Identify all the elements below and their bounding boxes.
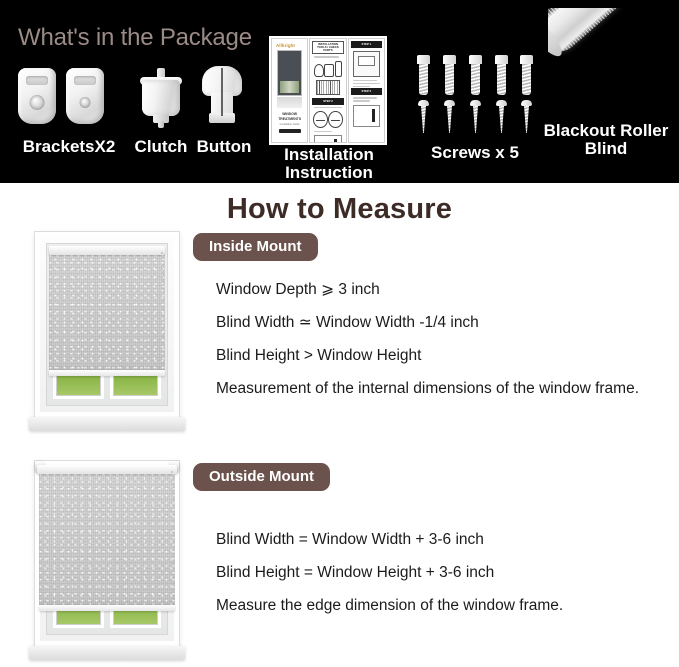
inside-mount-instructions: Window Depth ⩾ 3 inch Blind Width ≃ Wind…: [216, 273, 646, 405]
blind-fabric: [39, 473, 175, 605]
blind-headrail: [49, 246, 165, 255]
leaflet-brand-logo: Allbright: [276, 43, 305, 48]
inside-mount-line-4: Measurement of the internal dimensions o…: [216, 372, 646, 405]
window-sill: [29, 417, 185, 431]
inside-mount-badge-wrap: Inside Mount: [193, 233, 318, 261]
blind-chain: [161, 252, 163, 286]
inside-mount-window-illustration: [27, 226, 187, 431]
window-sill: [29, 646, 185, 660]
package-title: What's in the Package: [18, 24, 252, 52]
status-badge-outside-mount: Outside Mount: [193, 463, 330, 491]
blind-bottom-bar: [39, 605, 175, 611]
leaflet-header-step1: STEP 1: [351, 41, 382, 48]
leaflet-header-step3: STEP 3: [351, 88, 382, 95]
leaflet-panel-steps: STEP 1 STEP 3: [348, 38, 385, 143]
roller-blind-icon: [548, 8, 679, 126]
package-item-label-brackets: BracketsX2: [10, 138, 128, 156]
button-icon: [198, 66, 246, 126]
leaflet-header-parts: INSTALLATION TOOLS / CHECK PARTS: [312, 41, 343, 54]
package-item-label-clutch: Clutch: [126, 138, 196, 156]
inside-mount-line-2: Blind Width ≃ Window Width -1/4 inch: [216, 306, 646, 339]
package-item-label-screws: Screws x 5: [412, 144, 538, 162]
package-item-label-installation: Installation Instruction: [270, 146, 388, 183]
inside-mount-line-1: Window Depth ⩾ 3 inch: [216, 273, 646, 306]
bracket-icon: [14, 68, 124, 126]
outside-mount-line-1: Blind Width = Window Width + 3-6 inch: [216, 523, 656, 556]
screws-icon: [417, 55, 533, 133]
blind-headrail: [37, 465, 177, 474]
package-item-label-roller-blind: Blackout Roller Blind: [540, 122, 672, 159]
inside-mount-line-3: Blind Height > Window Height: [216, 339, 646, 372]
outside-mount-line-2: Blind Height = Window Height + 3-6 inch: [216, 556, 656, 589]
package-item-label-button: Button: [190, 138, 258, 156]
outside-mount-line-3: Measure the edge dimension of the window…: [216, 589, 656, 622]
leaflet-brand-text: WINDOW TREATMENTS: [274, 112, 305, 122]
blind-bottom-bar: [49, 370, 165, 376]
blind-chain: [171, 471, 173, 501]
leaflet-header-step2: STEP 2: [312, 98, 343, 105]
how-to-measure-title: How to Measure: [0, 193, 679, 226]
package-contents-banner: What's in the Package BracketsX2 Clutch …: [0, 0, 679, 183]
leaflet-panel-cover: Allbright WINDOW TREATMENTS Installation…: [271, 38, 308, 143]
outside-mount-window-illustration: [27, 455, 187, 660]
leaflet-panel-parts: INSTALLATION TOOLS / CHECK PARTS STEP 2: [309, 38, 346, 143]
instruction-leaflet-icon: Allbright WINDOW TREATMENTS Installation…: [269, 36, 387, 145]
status-badge-inside-mount: Inside Mount: [193, 233, 318, 261]
outside-mount-instructions: Blind Width = Window Width + 3-6 inch Bl…: [216, 523, 656, 622]
blind-fabric: [49, 254, 165, 370]
leaflet-brand-sub: Installation Guide: [274, 123, 305, 126]
clutch-icon: [136, 66, 186, 128]
outside-mount-badge-wrap: Outside Mount: [193, 463, 330, 491]
